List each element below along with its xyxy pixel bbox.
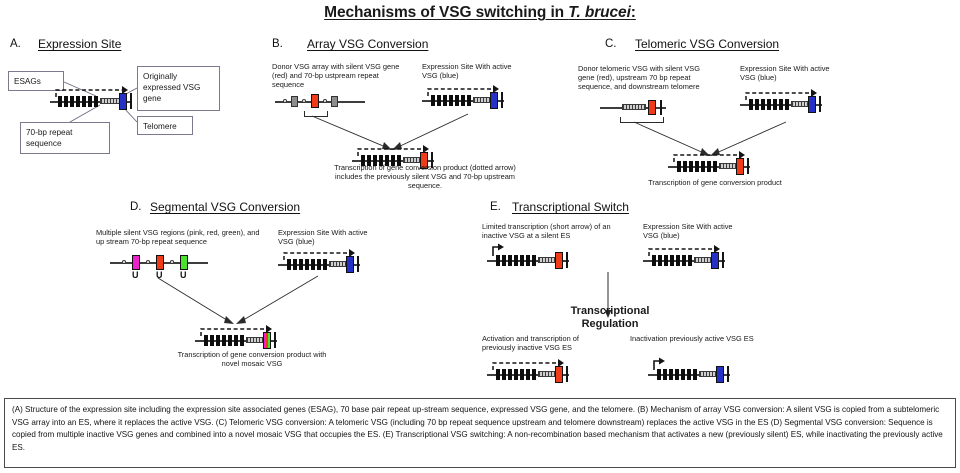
construct-expression-site-a <box>50 88 134 114</box>
seventy-bp-repeat-bar <box>622 104 646 110</box>
construct-expression-site-c <box>740 90 826 116</box>
short-transcription-arrow <box>487 246 577 272</box>
construct-expression-site-b <box>422 86 508 112</box>
panel-b-title: Array VSG Conversion <box>307 37 428 51</box>
panel-c-letter: C. <box>605 38 617 50</box>
transcription-arrow <box>278 250 368 276</box>
regulation-line-1: Transcriptional <box>545 305 675 318</box>
construct-inactivated-es-e <box>648 360 738 386</box>
panel-d-product-label: Transcription of gene conversion product… <box>172 350 332 368</box>
silent-vsg-pink-box <box>132 255 140 270</box>
construct-silent-es-e <box>487 246 577 272</box>
silent-vsg-red-box <box>311 94 319 108</box>
panel-c-donor-label: Donor telomeric VSG with silent VSG gene… <box>578 64 711 92</box>
repeat-circle <box>283 99 287 103</box>
panel-d-letter: D. <box>130 201 142 213</box>
transcription-arrow <box>740 90 830 116</box>
panel-c-product-label: Transcription of gene conversion product <box>640 178 790 187</box>
panel-b-es-label: Expression Site With active VSG (blue) <box>422 62 517 80</box>
short-transcription-arrow <box>648 360 738 386</box>
repeat-circle <box>170 260 174 264</box>
panel-c-title: Telomeric VSG Conversion <box>635 37 779 51</box>
repeat-circle <box>146 260 150 264</box>
panel-e-es-label: Expression Site With active VSG (blue) <box>643 222 739 240</box>
transcription-arrow <box>195 326 285 350</box>
transcription-arrow <box>643 246 733 272</box>
panel-b-donor-label: Donor VSG array with silent VSG gene (re… <box>272 62 402 90</box>
panel-b-letter: B. <box>272 38 283 50</box>
regulation-line-2: Regulation <box>545 318 675 331</box>
title-colon: : <box>631 4 636 21</box>
figure-caption: (A) Structure of the expression site inc… <box>4 398 956 468</box>
construct-activated-es-e <box>487 360 577 386</box>
silent-vsg-red-box <box>648 100 656 115</box>
panel-d-title: Segmental VSG Conversion <box>150 200 300 214</box>
construct-active-es-e <box>643 246 733 272</box>
repeat-circle <box>323 99 327 103</box>
silent-vsg-red-box <box>156 255 164 270</box>
silent-vsg-grey-box <box>331 96 338 107</box>
transcriptional-regulation-label: Transcriptional Regulation <box>545 305 675 331</box>
transcription-arrow <box>422 86 512 112</box>
panel-e-title: Transcriptional Switch <box>512 200 629 214</box>
repeat-circle <box>302 99 306 103</box>
construct-mosaic-product-d <box>195 326 285 350</box>
panel-a-leader-lines <box>0 0 240 170</box>
construct-expression-site-d <box>278 250 364 276</box>
panel-b-product-label: Transcription of gene conversion product… <box>330 163 520 191</box>
silent-vsg-grey-box <box>291 96 298 107</box>
transcription-arrow <box>487 360 577 386</box>
telomere-cap <box>660 100 662 115</box>
repeat-circle <box>122 260 126 264</box>
panel-e-inactivation-label: Inactivation previously active VSG ES <box>630 334 805 343</box>
panel-e-activation-label: Activation and transcription of previous… <box>482 334 612 352</box>
construct-conversion-product-c <box>668 152 758 176</box>
panel-d-conversion-arrows <box>130 274 380 330</box>
transcription-arrow <box>50 88 140 114</box>
transcription-arrow <box>668 152 758 176</box>
panel-c-es-label: Expression Site With active VSG (blue) <box>740 64 836 82</box>
title-species: T. brucei <box>568 4 631 21</box>
panel-e-letter: E. <box>490 201 501 213</box>
chromosome-line <box>275 101 365 103</box>
title-main: Mechanisms of VSG switching in <box>324 4 568 21</box>
silent-vsg-green-box <box>180 255 188 270</box>
panel-d-es-label: Expression Site With active VSG (blue) <box>278 228 374 246</box>
panel-e-silent-label: Limited transcription (short arrow) of a… <box>482 222 622 240</box>
panel-d-donor-label: Multiple silent VSG regions (pink, red, … <box>96 228 261 246</box>
